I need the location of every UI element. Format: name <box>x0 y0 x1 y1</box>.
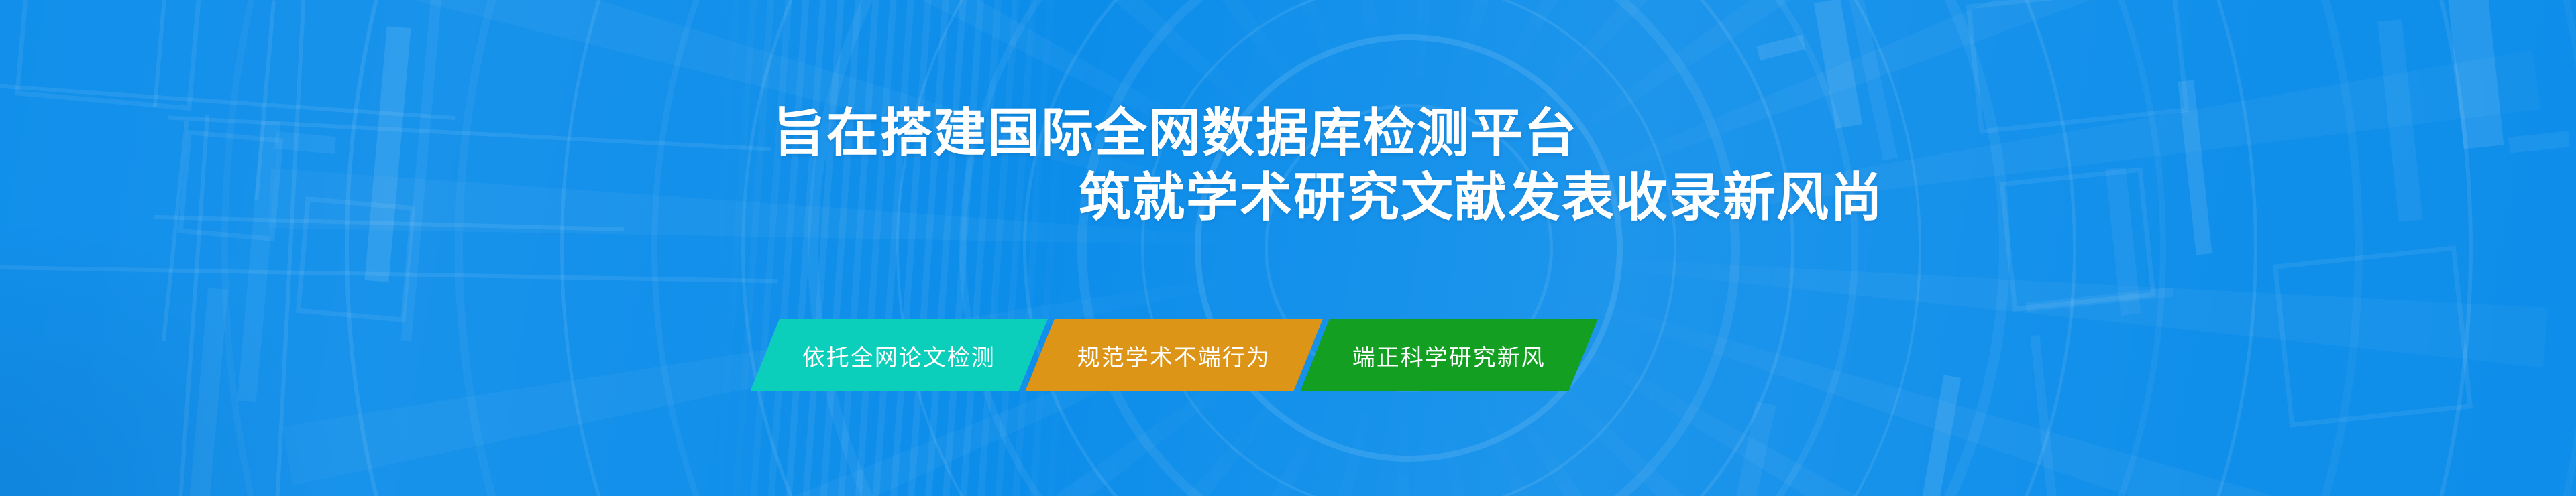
circuit-block <box>1733 401 1776 496</box>
radial-spokes-pattern <box>268 0 2549 496</box>
headline-group: 旨在搭建国际全网数据库检测平台 筑就学术研究文献发表收录新风尚 <box>0 101 2576 229</box>
headline-line-1: 旨在搭建国际全网数据库检测平台 <box>773 101 2576 165</box>
circuit-block <box>2026 288 2173 312</box>
feature-tag-label: 规范学术不端行为 <box>1073 339 1275 372</box>
grid-line-vertical <box>153 0 168 107</box>
background-decoration <box>0 0 2576 496</box>
feature-tag-integrity[interactable]: 端正科学研究新风 <box>1300 319 1598 391</box>
corner-shadow <box>0 214 349 496</box>
circuit-block <box>2273 245 2473 427</box>
promotional-banner: 旨在搭建国际全网数据库检测平台 筑就学术研究文献发表收录新风尚 依托全网论文检测… <box>0 0 2576 496</box>
circuit-block <box>189 288 228 496</box>
headline-line-2: 筑就学术研究文献发表收录新风尚 <box>1079 165 2576 229</box>
circuit-block <box>15 0 203 111</box>
feature-tag-label: 端正科学研究新风 <box>1348 339 1550 372</box>
grid-line-vertical <box>275 0 307 496</box>
vertical-streaks-pattern <box>704 0 1080 496</box>
feature-tag-label: 依托全网论文检测 <box>798 339 1000 372</box>
circuit-block <box>2030 335 2057 496</box>
feature-tag-strip: 依托全网论文检测 规范学术不端行为 端正科学研究新风 <box>765 319 1583 391</box>
circuit-block <box>1921 375 1961 496</box>
circuit-block <box>1756 35 1805 60</box>
feature-tag-misconduct[interactable]: 规范学术不端行为 <box>1025 319 1323 391</box>
feature-tag-detection[interactable]: 依托全网论文检测 <box>750 319 1048 391</box>
background-gradient-wash <box>0 0 2576 496</box>
grid-line-horizontal <box>0 265 778 284</box>
